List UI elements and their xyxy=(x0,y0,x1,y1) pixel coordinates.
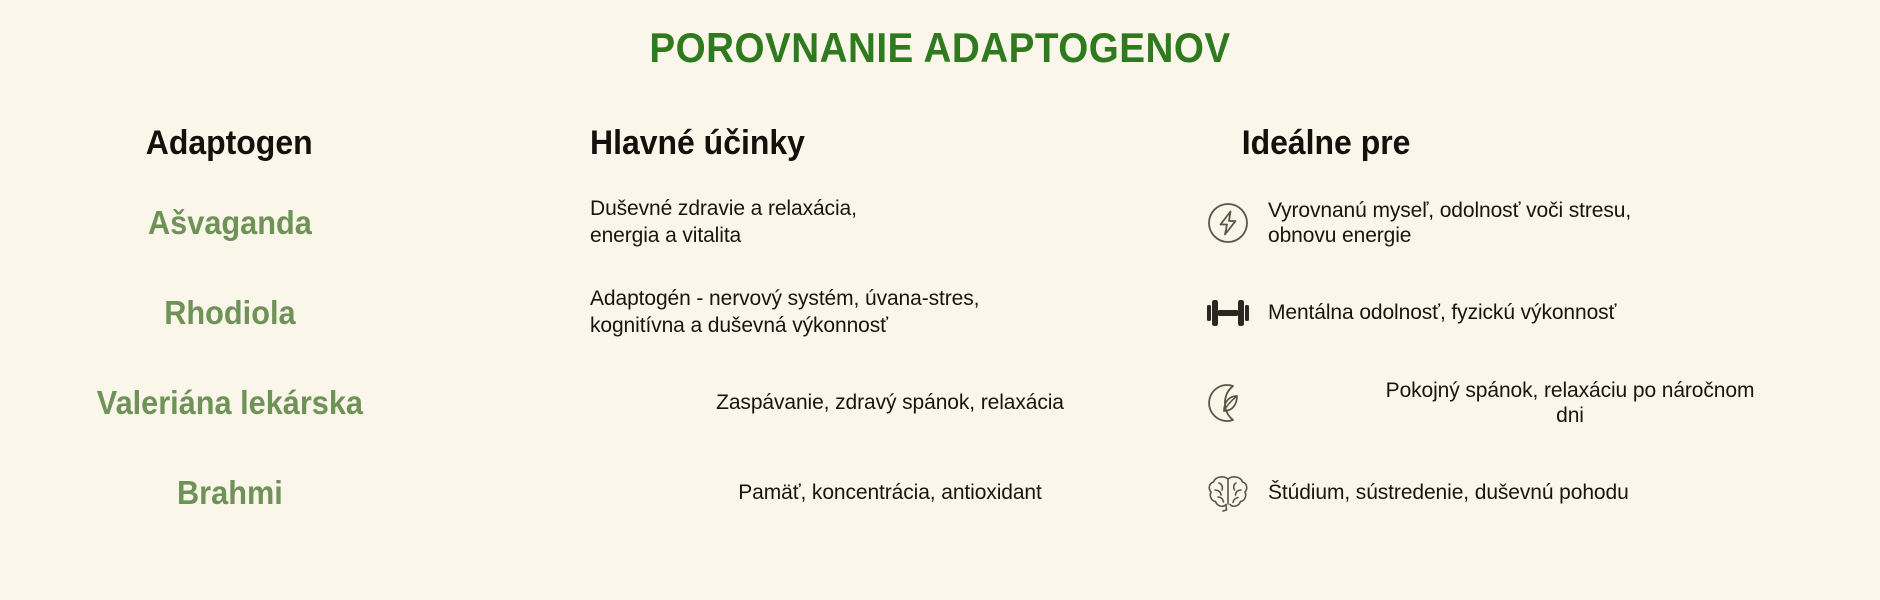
effects-line: Zaspávanie, zdravý spánok, relaxácia xyxy=(600,390,1180,417)
moon-leaf-icon xyxy=(1202,377,1254,429)
ideal-for-line: dni xyxy=(1268,403,1872,428)
effects-line: Pamäť, koncentrácia, antioxidant xyxy=(600,480,1180,507)
ideal-for-line: Štúdium, sústredenie, duševnú pohodu xyxy=(1268,480,1629,505)
adaptogen-ideal-for: Štúdium, sústredenie, duševnú pohodu xyxy=(1190,467,1880,519)
ideal-for-line: obnovu energie xyxy=(1268,223,1631,248)
effects-line: Duševné zdravie a relaxácia, xyxy=(590,196,1190,223)
table-row: Valeriána lekárska Zaspávanie, zdravý sp… xyxy=(0,358,1880,448)
adaptogen-comparison-infographic: POROVNANIE ADAPTOGENOV Adaptogen Hlavné … xyxy=(0,0,1880,600)
comparison-table: Adaptogen Hlavné účinky Ideálne pre Ašva… xyxy=(0,108,1880,538)
ideal-for-text: Pokojný spánok, relaxáciu po náročnom dn… xyxy=(1268,378,1872,428)
ideal-for-line: Pokojný spánok, relaxáciu po náročnom xyxy=(1268,378,1872,403)
ideal-for-text: Vyrovnanú myseľ, odolnosť voči stresu, o… xyxy=(1268,198,1631,248)
adaptogen-name: Brahmi xyxy=(21,474,570,512)
dumbbell-icon xyxy=(1202,287,1254,339)
column-header-effects: Hlavné účinky xyxy=(590,124,1154,163)
adaptogen-ideal-for: Pokojný spánok, relaxáciu po náročnom dn… xyxy=(1190,377,1880,429)
adaptogen-ideal-for: Vyrovnanú myseľ, odolnosť voči stresu, o… xyxy=(1190,197,1880,249)
column-header-ideal-for: Ideálne pre xyxy=(1190,124,1839,163)
adaptogen-name: Rhodiola xyxy=(21,294,570,332)
ideal-for-line: Mentálna odolnosť, fyzickú výkonnosť xyxy=(1268,300,1616,325)
ideal-for-line: Vyrovnanú myseľ, odolnosť voči stresu, xyxy=(1268,198,1631,223)
ideal-for-text: Štúdium, sústredenie, duševnú pohodu xyxy=(1268,480,1629,505)
adaptogen-effects: Pamäť, koncentrácia, antioxidant xyxy=(590,480,1190,507)
table-row: Brahmi Pamäť, koncentrácia, antioxidant xyxy=(0,448,1880,538)
adaptogen-effects: Zaspávanie, zdravý spánok, relaxácia xyxy=(590,390,1190,417)
column-header-adaptogen: Adaptogen xyxy=(18,124,573,163)
adaptogen-name: Ašvaganda xyxy=(21,204,570,242)
table-header-row: Adaptogen Hlavné účinky Ideálne pre xyxy=(0,108,1880,178)
page-title: POROVNANIE ADAPTOGENOV xyxy=(75,24,1805,72)
effects-line: Adaptogén - nervový systém, úvana-stres, xyxy=(590,286,1190,313)
adaptogen-effects: Duševné zdravie a relaxácia, energia a v… xyxy=(590,196,1190,250)
lightning-bolt-circle-icon xyxy=(1202,197,1254,249)
adaptogen-ideal-for: Mentálna odolnosť, fyzickú výkonnosť xyxy=(1190,287,1880,339)
brain-icon xyxy=(1202,467,1254,519)
effects-line: kognitívna a duševná výkonnosť xyxy=(590,313,1190,340)
effects-line: energia a vitalita xyxy=(590,223,1190,250)
table-row: Ašvaganda Duševné zdravie a relaxácia, e… xyxy=(0,178,1880,268)
table-row: Rhodiola Adaptogén - nervový systém, úva… xyxy=(0,268,1880,358)
ideal-for-text: Mentálna odolnosť, fyzickú výkonnosť xyxy=(1268,300,1616,325)
adaptogen-name: Valeriána lekárska xyxy=(21,384,570,422)
adaptogen-effects: Adaptogén - nervový systém, úvana-stres,… xyxy=(590,286,1190,340)
